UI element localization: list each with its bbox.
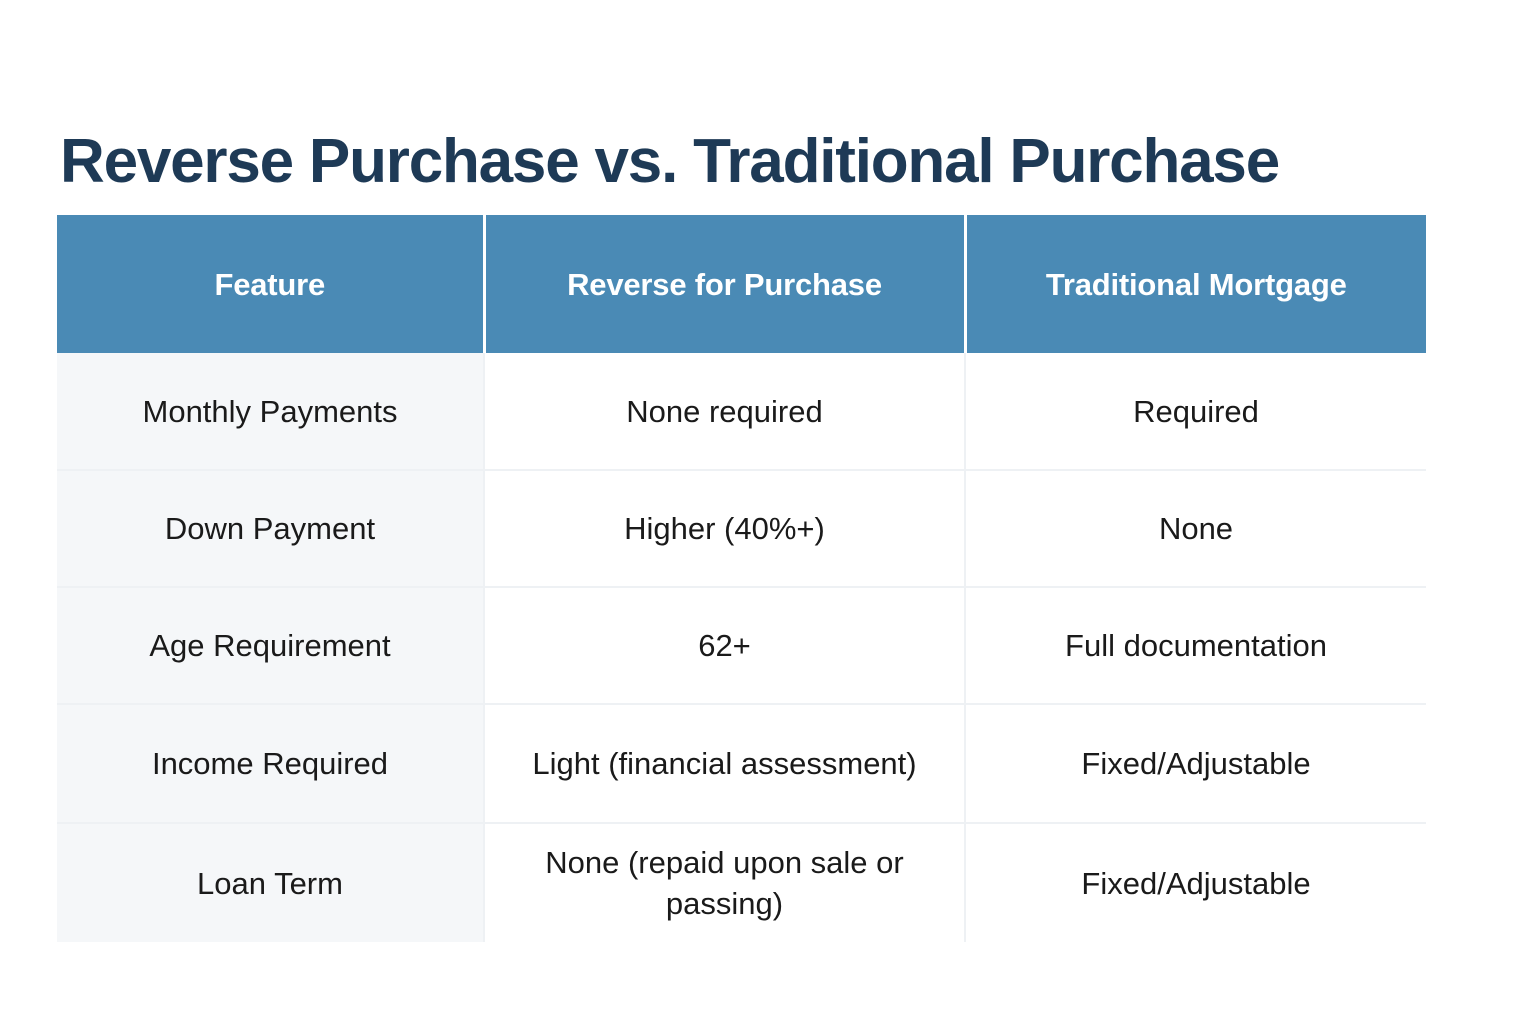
table-row: Age Requirement 62+ Full documentation bbox=[57, 587, 1426, 704]
cell-reverse: 62+ bbox=[484, 587, 965, 704]
page-title: Reverse Purchase vs. Traditional Purchas… bbox=[60, 124, 1460, 200]
comparison-infographic: Reverse Purchase vs. Traditional Purchas… bbox=[0, 0, 1536, 1024]
cell-feature: Monthly Payments bbox=[57, 353, 484, 470]
cell-feature: Down Payment bbox=[57, 470, 484, 587]
column-header-reverse-for-purchase: Reverse for Purchase bbox=[484, 215, 965, 353]
cell-traditional: Required bbox=[965, 353, 1426, 470]
cell-feature: Income Required bbox=[57, 704, 484, 823]
cell-reverse: Light (financial assessment) bbox=[484, 704, 965, 823]
cell-feature: Age Requirement bbox=[57, 587, 484, 704]
cell-traditional: Fixed/Adjustable bbox=[965, 823, 1426, 942]
table-row: Loan Term None (repaid upon sale or pass… bbox=[57, 823, 1426, 942]
cell-traditional: None bbox=[965, 470, 1426, 587]
column-header-feature: Feature bbox=[57, 215, 484, 353]
column-header-traditional-mortgage: Traditional Mortgage bbox=[965, 215, 1426, 353]
cell-reverse: Higher (40%+) bbox=[484, 470, 965, 587]
table-header: Feature Reverse for Purchase Traditional… bbox=[57, 215, 1426, 353]
comparison-table: Feature Reverse for Purchase Traditional… bbox=[57, 215, 1426, 942]
table-header-row: Feature Reverse for Purchase Traditional… bbox=[57, 215, 1426, 353]
table-row: Down Payment Higher (40%+) None bbox=[57, 470, 1426, 587]
cell-traditional: Fixed/Adjustable bbox=[965, 704, 1426, 823]
table-row: Income Required Light (financial assessm… bbox=[57, 704, 1426, 823]
cell-reverse: None (repaid upon sale or passing) bbox=[484, 823, 965, 942]
cell-traditional: Full documentation bbox=[965, 587, 1426, 704]
cell-reverse: None required bbox=[484, 353, 965, 470]
table-body: Monthly Payments None required Required … bbox=[57, 353, 1426, 942]
cell-feature: Loan Term bbox=[57, 823, 484, 942]
table-row: Monthly Payments None required Required bbox=[57, 353, 1426, 470]
